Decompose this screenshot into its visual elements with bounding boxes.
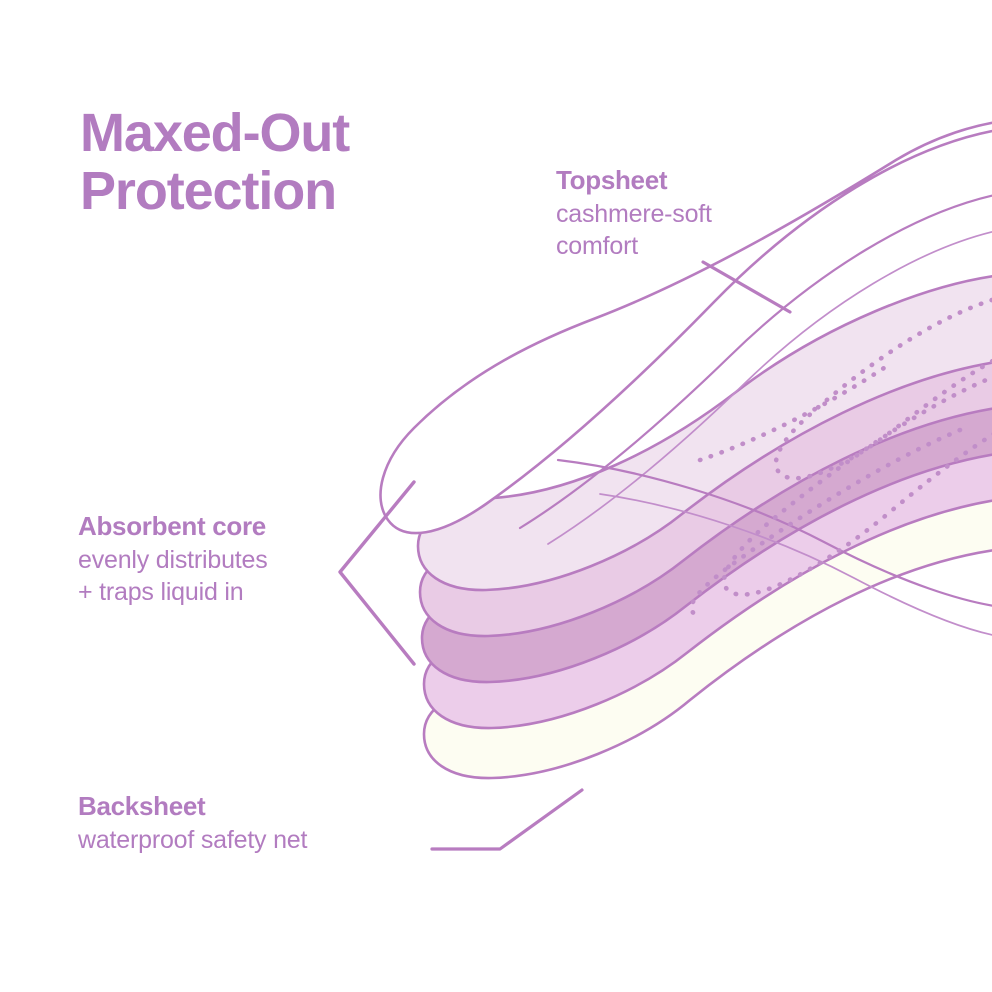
callout-absorbent-core-title: Absorbent core: [78, 512, 378, 541]
callout-absorbent-core-description: evenly distributes + traps liquid in: [78, 544, 378, 608]
callout-backsheet-title: Backsheet: [78, 792, 458, 821]
callout-topsheet: Topsheet cashmere-soft comfort: [556, 166, 856, 262]
callout-topsheet-description: cashmere-soft comfort: [556, 198, 856, 262]
callout-backsheet-description: waterproof safety net: [78, 824, 458, 856]
illustration-canvas: Maxed-Out Protection Topsheet cashmere-s…: [0, 0, 992, 992]
callout-absorbent-core: Absorbent core evenly distributes + trap…: [78, 512, 378, 608]
page-title: Maxed-Out Protection: [80, 104, 500, 221]
callout-topsheet-title: Topsheet: [556, 166, 856, 195]
callout-backsheet: Backsheet waterproof safety net: [78, 792, 458, 856]
